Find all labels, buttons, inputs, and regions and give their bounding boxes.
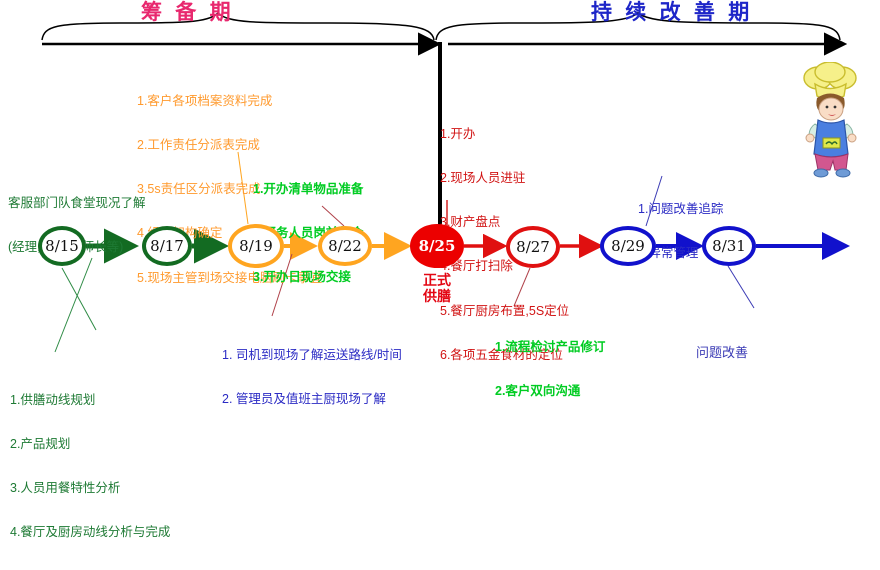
- timeline-diagram: 筹 备 期 持 续 改 善 期 1.客户各项档案资料完成 2.工作责任分派表完成…: [0, 0, 880, 430]
- callout-line: 4.餐厅及厨房动线分析与完成: [10, 525, 170, 540]
- chef-shoe-right: [836, 169, 850, 177]
- callout-line: 2.工作责任分派表完成: [137, 138, 322, 153]
- chef-shoe-left: [814, 169, 828, 177]
- chef-character-illustration: [798, 62, 864, 180]
- callout-line: 1.客户各项档案资料完成: [137, 94, 322, 109]
- node-caption-8-25: 正式供膳: [400, 272, 474, 304]
- chef-eye-right: [834, 106, 837, 109]
- phase-label-improve: 持 续 改 善 期: [591, 0, 752, 25]
- callout-line: 3.财产盘点: [440, 215, 569, 230]
- callout-line: 2.产品规划: [10, 437, 170, 452]
- callout-line: 1.问题改善追踪: [638, 202, 723, 217]
- callout-blue-bottom-left: 1. 司机到现场了解运送路线/时间 2. 管理员及值班主厨现场了解: [222, 318, 402, 436]
- node-date-label: 8/17: [150, 237, 184, 255]
- chef-hand-right: [848, 134, 856, 142]
- node-date-label: 8/19: [239, 237, 273, 255]
- node-date-label: 8/25: [419, 237, 456, 255]
- callout-darkgreen-left: 客服部门队食堂现况了解 (经理,主管,厨师长等): [8, 166, 146, 284]
- timeline-node-8-25[interactable]: 8/25: [410, 224, 464, 268]
- chef-face: [819, 98, 843, 120]
- callout-line: 3.开办日现场交接: [253, 270, 363, 285]
- timeline-node-8-31[interactable]: 8/31: [702, 226, 756, 266]
- node-date-label: 8/31: [712, 237, 746, 255]
- callout-darkgreen-bottom: 1.供膳动线规划 2.产品规划 3.人员用餐特性分析 4.餐厅及厨房动线分析与完…: [10, 363, 170, 570]
- callout-line: 3.人员用餐特性分析: [10, 481, 170, 496]
- callout-blue-bottom-right: 问题改善: [696, 314, 748, 391]
- timeline-node-8-15[interactable]: 8/15: [38, 226, 86, 266]
- callout-line: 1. 司机到现场了解运送路线/时间: [222, 348, 402, 363]
- chef-eye-left: [826, 106, 829, 109]
- callout-line: 1.供膳动线规划: [10, 393, 170, 408]
- callout-line: 2.客户双向沟通: [495, 384, 605, 399]
- timeline-node-8-27[interactable]: 8/27: [506, 226, 560, 268]
- callout-line: 1.开办: [440, 127, 569, 142]
- node-date-label: 8/15: [45, 237, 79, 255]
- node-date-label: 8/22: [328, 237, 362, 255]
- callout-line: 客服部门队食堂现况了解: [8, 196, 146, 211]
- timeline-node-8-22[interactable]: 8/22: [318, 226, 372, 266]
- timeline-node-8-19[interactable]: 8/19: [228, 224, 284, 268]
- callout-green-bottom-right: 1.流程检讨产品修订 2.客户双向沟通: [495, 310, 605, 428]
- leader-blue-bottom-right: [728, 266, 754, 308]
- callout-line: 1.流程检讨产品修订: [495, 340, 605, 355]
- callout-line: 2. 管理员及值班主厨现场了解: [222, 392, 402, 407]
- prep-phase-brace: [42, 13, 434, 40]
- phase-label-prep: 筹 备 期: [141, 0, 234, 25]
- timeline-node-8-29[interactable]: 8/29: [600, 226, 656, 266]
- chef-hand-left: [806, 134, 814, 142]
- callout-line: 2.现场人员进驻: [440, 171, 569, 186]
- callout-line: 问题改善: [696, 345, 748, 360]
- callout-line: 1.开办清单物品准备: [253, 182, 363, 197]
- node-date-label: 8/27: [516, 238, 550, 256]
- timeline-node-8-17[interactable]: 8/17: [142, 226, 192, 266]
- node-date-label: 8/29: [611, 237, 645, 255]
